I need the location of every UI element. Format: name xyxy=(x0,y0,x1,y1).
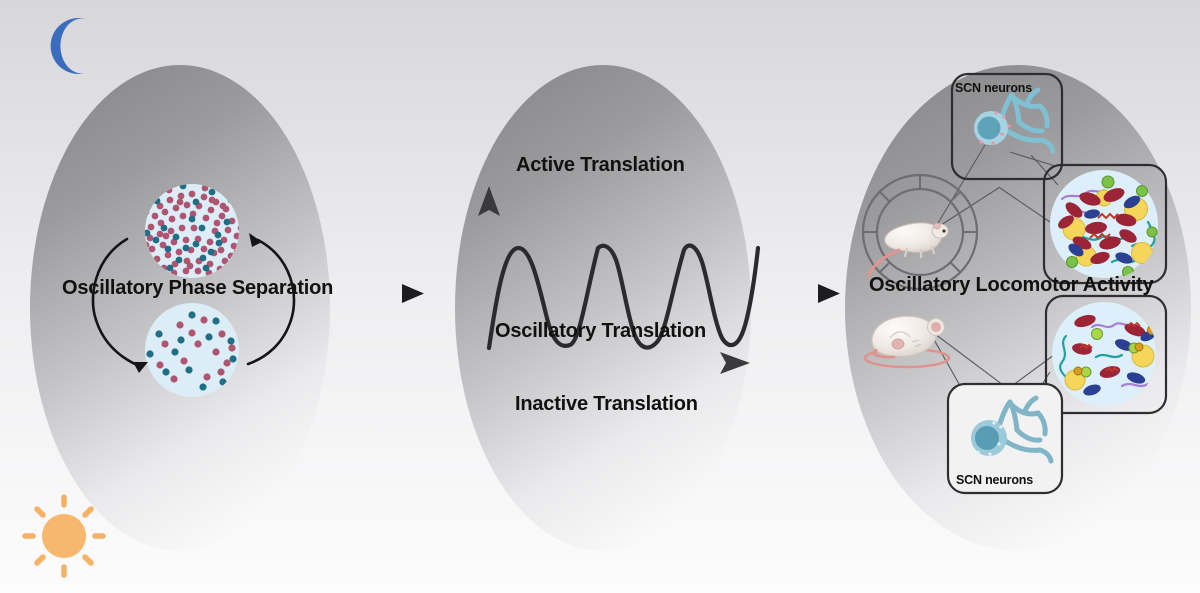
label-oscillatory-phase-separation: Oscillatory Phase Separation xyxy=(62,277,333,300)
label-oscillatory-translation: Oscillatory Translation xyxy=(495,320,706,343)
neuron-icon-top xyxy=(974,90,1053,151)
mouse-running-wheel xyxy=(863,175,977,289)
label-oscillatory-locomotor-activity: Oscillatory Locomotor Activity xyxy=(869,274,1153,297)
label-scn-neurons-bottom: SCN neurons xyxy=(956,473,1033,487)
label-inactive-translation: Inactive Translation xyxy=(515,393,698,416)
label-scn-neurons-top: SCN neurons xyxy=(955,81,1032,95)
dispersed-box xyxy=(1046,296,1166,413)
condensate-box xyxy=(1044,165,1166,283)
mouse-sleeping xyxy=(865,316,949,367)
label-active-translation: Active Translation xyxy=(516,154,685,177)
figure-canvas: Active Translation Oscillatory Translati… xyxy=(0,0,1200,593)
